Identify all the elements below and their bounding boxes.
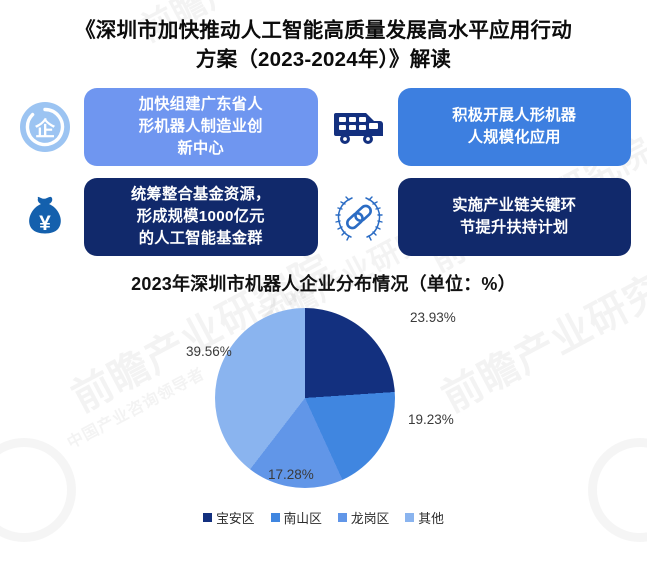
- highlight-cards-grid: 企 加快组建广东省人 形机器人制造业创 新中心: [0, 88, 647, 256]
- enterprise-badge-icon: 企: [14, 92, 76, 162]
- highlight-card-3-label: 统筹整合基金资源， 形成规模1000亿元 的人工智能基金群: [131, 184, 270, 250]
- highlight-card-1-label: 加快组建广东省人 形机器人制造业创 新中心: [139, 94, 263, 160]
- legend-swatch-icon: [203, 513, 212, 522]
- svg-text:¥: ¥: [39, 212, 51, 235]
- legend-swatch-icon: [271, 513, 280, 522]
- chart-title: 2023年深圳市机器人企业分布情况（单位：%）: [0, 270, 647, 296]
- highlight-card-2[interactable]: 积极开展人形机器 人规模化应用: [328, 88, 632, 166]
- page-title-line-1: 《深圳市加快推动人工智能高质量发展高水平应用行动: [58, 16, 589, 45]
- pie-chart[interactable]: [215, 308, 395, 488]
- money-bag-icon: ¥: [14, 182, 76, 252]
- chart-legend: 宝安区南山区龙岗区其他: [0, 508, 647, 527]
- pie-wrap: [215, 308, 395, 488]
- highlight-card-4[interactable]: 实施产业链关键环 节提升扶持计划: [328, 178, 632, 256]
- bus-icon: [328, 92, 390, 162]
- pie-label-1: 19.23%: [408, 412, 454, 427]
- legend-item-2[interactable]: 龙岗区: [338, 508, 389, 527]
- legend-item-label: 其他: [418, 508, 444, 527]
- infographic-page: 《深圳市加快推动人工智能高质量发展高水平应用行动 方案（2023-2024年）》…: [0, 0, 647, 564]
- legend-item-label: 南山区: [284, 508, 322, 527]
- highlight-card-1-body[interactable]: 加快组建广东省人 形机器人制造业创 新中心: [84, 88, 318, 166]
- highlight-card-4-body[interactable]: 实施产业链关键环 节提升扶持计划: [398, 178, 632, 256]
- pie-label-2: 17.28%: [268, 467, 314, 482]
- page-title-line-2: 方案（2023-2024年）》解读: [58, 45, 589, 74]
- legend-item-3[interactable]: 其他: [405, 508, 444, 527]
- highlight-card-3-body[interactable]: 统筹整合基金资源， 形成规模1000亿元 的人工智能基金群: [84, 178, 318, 256]
- highlight-card-2-label: 积极开展人形机器 人规模化应用: [452, 105, 576, 149]
- chart-plot-area: 23.93% 19.23% 17.28% 39.56%: [0, 302, 647, 502]
- highlight-card-4-label: 实施产业链关键环 节提升扶持计划: [452, 195, 576, 239]
- highlight-card-2-body[interactable]: 积极开展人形机器 人规模化应用: [398, 88, 632, 166]
- legend-swatch-icon: [338, 513, 347, 522]
- legend-swatch-icon: [405, 513, 414, 522]
- legend-item-1[interactable]: 南山区: [271, 508, 322, 527]
- legend-item-label: 龙岗区: [351, 508, 389, 527]
- pie-chart-section: 2023年深圳市机器人企业分布情况（单位：%） 23.93% 19.23% 17…: [0, 270, 647, 527]
- legend-item-0[interactable]: 宝安区: [203, 508, 254, 527]
- highlight-card-3[interactable]: ¥ 统筹整合基金资源， 形成规模1000亿元 的人工智能基金群: [14, 178, 318, 256]
- svg-text:企: 企: [34, 117, 56, 141]
- pie-label-0: 23.93%: [410, 310, 456, 325]
- chain-link-wreath-icon: [328, 182, 390, 252]
- highlight-card-1[interactable]: 企 加快组建广东省人 形机器人制造业创 新中心: [14, 88, 318, 166]
- pie-label-3: 39.56%: [186, 344, 232, 359]
- legend-item-label: 宝安区: [216, 508, 254, 527]
- page-title: 《深圳市加快推动人工智能高质量发展高水平应用行动 方案（2023-2024年）》…: [0, 0, 647, 76]
